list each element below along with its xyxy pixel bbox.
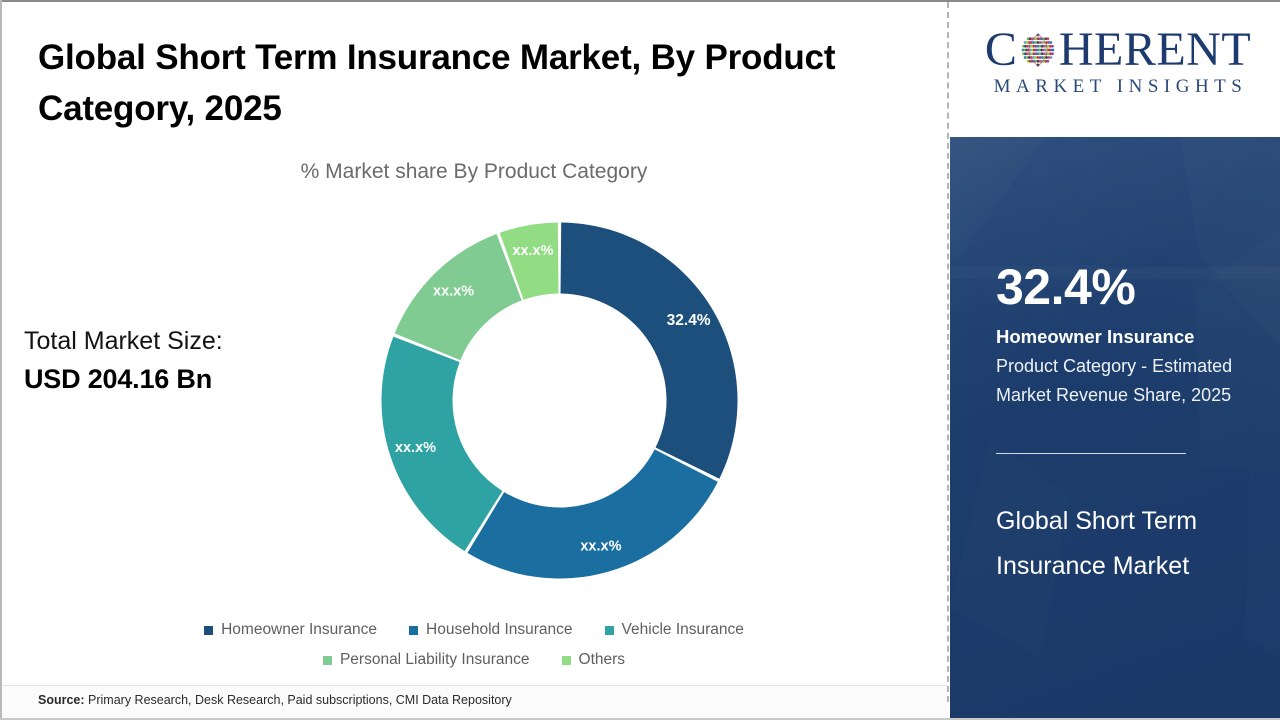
legend-label: Personal Liability Insurance	[340, 652, 530, 668]
stat-divider-rule	[996, 453, 1186, 454]
legend-swatch-icon	[605, 626, 614, 635]
legend-item-household-insurance[interactable]: Household Insurance	[409, 622, 573, 638]
highlight-side-panel: 32.4% Homeowner Insurance Product Catego…	[950, 137, 1280, 718]
source-text: Primary Research, Desk Research, Paid su…	[85, 693, 512, 707]
globe-dot	[1049, 41, 1052, 44]
sidebar-market-name: Global Short Term Insurance Market	[996, 499, 1246, 589]
vertical-dashed-divider	[947, 2, 949, 702]
logo-band: C HERENT MARKET INSIGHTS	[950, 2, 1280, 137]
legend-item-vehicle-insurance[interactable]: Vehicle Insurance	[605, 622, 744, 638]
logo-letter-c: C	[985, 26, 1017, 74]
source-prefix: Source:	[38, 693, 85, 707]
globe-dot	[1046, 37, 1049, 40]
legend-item-others[interactable]: Others	[562, 652, 626, 668]
legend-label: Others	[579, 652, 626, 668]
globe-dot	[1046, 60, 1049, 63]
stat-description: Product Category - Estimated Market Reve…	[996, 352, 1248, 410]
donut-chart-svg: 32.4%xx.x%xx.x%xx.x%xx.x%	[377, 218, 742, 583]
legend-swatch-icon	[409, 626, 418, 635]
donut-slice-label-2: xx.x%	[580, 538, 621, 554]
legend-swatch-icon	[204, 626, 213, 635]
globe-dot	[1051, 52, 1054, 55]
legend-row-1: Homeowner InsuranceHousehold InsuranceVe…	[0, 615, 948, 645]
main-content-column: Global Short Term Insurance Market, By P…	[0, 0, 948, 720]
legend-label: Vehicle Insurance	[622, 622, 744, 638]
logo-wordmark: C HERENT	[968, 28, 1268, 72]
stat-percentage: 32.4%	[996, 262, 1135, 312]
donut-slice-label-1: 32.4%	[667, 312, 711, 329]
legend-item-personal-liability-insurance[interactable]: Personal Liability Insurance	[323, 652, 530, 668]
chart-subtitle: % Market share By Product Category	[0, 160, 948, 184]
donut-slice-label-3: xx.x%	[395, 440, 436, 456]
panel-texture-decoration	[950, 137, 1280, 718]
logo-wordmark-rest: HERENT	[1059, 26, 1251, 74]
donut-chart: 32.4%xx.x%xx.x%xx.x%xx.x%	[377, 218, 742, 583]
logo-subtitle: MARKET INSIGHTS	[968, 76, 1268, 98]
donut-slice-1	[561, 223, 738, 479]
total-market-size: Total Market Size: USD 204.16 Bn	[24, 322, 314, 398]
infographic-root: Global Short Term Insurance Market, By P…	[0, 0, 1280, 720]
donut-slice-label-5: xx.x%	[512, 243, 553, 259]
coherent-market-insights-logo: C HERENT MARKET INSIGHTS	[968, 28, 1268, 98]
legend-swatch-icon	[323, 656, 332, 665]
globe-dots-icon	[1018, 30, 1058, 70]
market-size-value: USD 204.16 Bn	[24, 360, 314, 398]
globe-dot	[1051, 45, 1054, 48]
source-note: Source: Primary Research, Desk Research,…	[38, 693, 512, 707]
legend-row-2: Personal Liability InsuranceOthers	[0, 645, 948, 675]
legend-item-homeowner-insurance[interactable]: Homeowner Insurance	[204, 622, 377, 638]
page-title: Global Short Term Insurance Market, By P…	[38, 32, 918, 134]
globe-dot	[1051, 49, 1054, 52]
legend-swatch-icon	[562, 656, 571, 665]
donut-slice-2	[467, 449, 717, 578]
chart-legend: Homeowner InsuranceHousehold InsuranceVe…	[0, 615, 948, 675]
stat-category-name: Homeowner Insurance	[996, 325, 1264, 348]
donut-slice-label-4: xx.x%	[433, 284, 474, 300]
globe-dot	[1049, 56, 1052, 59]
market-size-label: Total Market Size:	[24, 322, 314, 360]
source-bar: Source: Primary Research, Desk Research,…	[2, 685, 948, 718]
legend-label: Homeowner Insurance	[221, 622, 377, 638]
legend-label: Household Insurance	[426, 622, 573, 638]
